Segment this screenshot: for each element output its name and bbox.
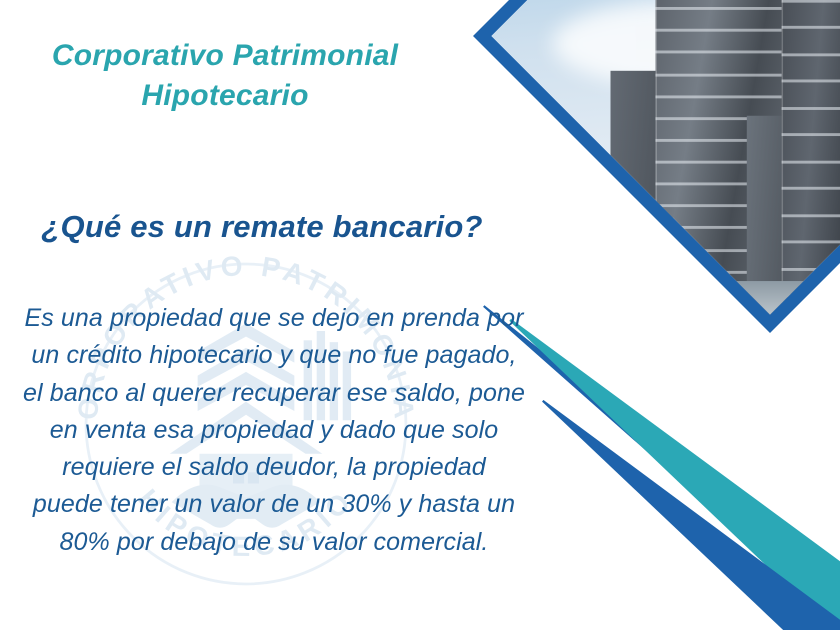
body-line-2: un crédito hipotecario y que no fue paga… (0, 337, 574, 374)
body-paragraph: Es una propiedad que se dejo en prenda p… (0, 300, 574, 561)
body-line-3: el banco al querer recuperar ese saldo, … (0, 375, 574, 412)
body-line-5: requiere el saldo deudor, la propiedad (0, 449, 574, 486)
body-line-6: puede tener un valor de un 30% y hasta u… (0, 486, 574, 523)
high-rise-towers-photo (473, 0, 840, 333)
brand-title-line-2: Hipotecario (141, 79, 308, 112)
body-line-1: Es una propiedad que se dejo en prenda p… (0, 300, 574, 337)
photo-image (484, 0, 840, 322)
brand-title: Corporativo Patrimonial Hipotecario (0, 36, 460, 115)
page-title: ¿Qué es un remate bancario? (0, 209, 542, 245)
main-tower (781, 0, 840, 322)
body-line-7: 80% por debajo de su valor comercial. (0, 524, 574, 561)
body-line-4: en venta esa propiedad y dado que solo (0, 412, 574, 449)
slide-canvas: CORPORATIVO PATRIMONIAL HIPOTECARIO (0, 0, 840, 630)
brand-title-line-1: Corporativo Patrimonial (52, 39, 398, 72)
